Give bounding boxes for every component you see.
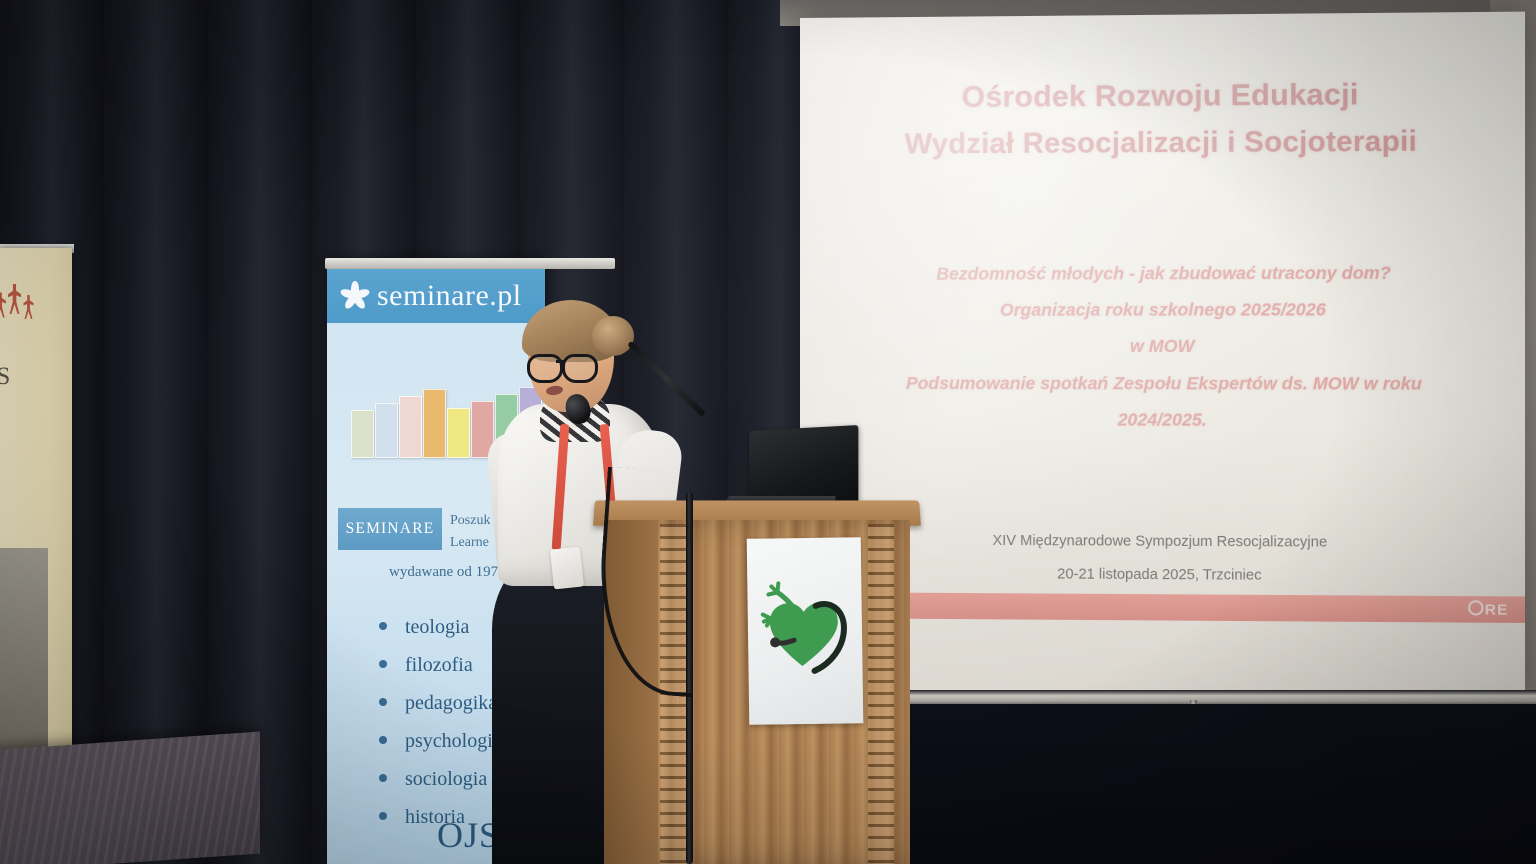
list-item: pedagogika [379,684,502,722]
slide-body-line-4: Podsumowanie spotkań Zespołu Ekspertów d… [840,365,1490,402]
person-figure-icon [0,292,6,318]
eyeglasses-right-lens-icon [562,354,598,383]
seminare-pinwheel-icon [337,279,371,313]
slide-body: Bezdomność młodych - jak zbudować utraco… [840,254,1490,438]
slide-body-line-1: Bezdomność młodych - jak zbudować utraco… [840,254,1490,292]
banner-topics-list: teologia filozofia pedagogika psychologi… [379,608,502,836]
list-item: sociologia [379,760,502,798]
list-item: psychologia [379,722,502,760]
ore-logo-text: RE [1485,601,1509,618]
journal-cover [399,396,422,458]
journal-cover [423,389,446,458]
speaker-name-badge [550,547,584,590]
speaker-hair-bun [592,316,634,356]
slide-title: Ośrodek Rozwoju Edukacji Wydział Resocja… [800,71,1525,168]
ore-logo: RE [1468,600,1508,619]
list-item: filozofia [379,646,502,684]
seminare-journal-box: SEMINARE [338,508,442,550]
left-banner-text-line-1: n [0,334,10,363]
eyeglasses-left-lens-icon [527,354,563,383]
banner-since-text: wydawane od 1975 [389,564,506,581]
ore-ring-icon [1468,600,1484,615]
list-item: teologia [379,608,502,646]
slide-body-line-3: w MOW [840,328,1490,365]
left-banner-text: n rS [0,334,10,392]
covered-table [0,732,260,864]
people-figures-icon [0,282,38,328]
banner-wordmark: seminare.pl [377,279,522,313]
journal-cover [375,403,398,458]
conference-photo: Ośrodek Rozwoju Edukacji Wydział Resocja… [0,0,1536,864]
banner-top-rail [325,258,615,269]
podium-flute-right [868,524,894,864]
journal-cover [447,408,470,458]
eyeglasses-bridge-icon [556,360,564,363]
slide-body-line-5: 2024/2025. [840,401,1490,439]
left-banner-text-line-2: rS [0,363,10,392]
slide-title-line-1: Ośrodek Rozwoju Edukacji [800,71,1525,123]
banner-header: seminare.pl [327,269,545,323]
dark-floor-area [900,704,1536,864]
journal-cover [351,410,374,458]
ojs-logo-text: OJS [437,814,500,856]
slide-title-line-2: Wydział Resocjalizacji i Socjoterapii [800,118,1525,167]
gecko-heart-logo-icon [755,569,855,682]
podium-sign [747,537,864,725]
person-figure-icon [8,284,21,314]
slide-body-line-2: Organizacja roku szkolnego 2025/2026 [840,291,1490,328]
person-figure-icon [23,295,33,319]
